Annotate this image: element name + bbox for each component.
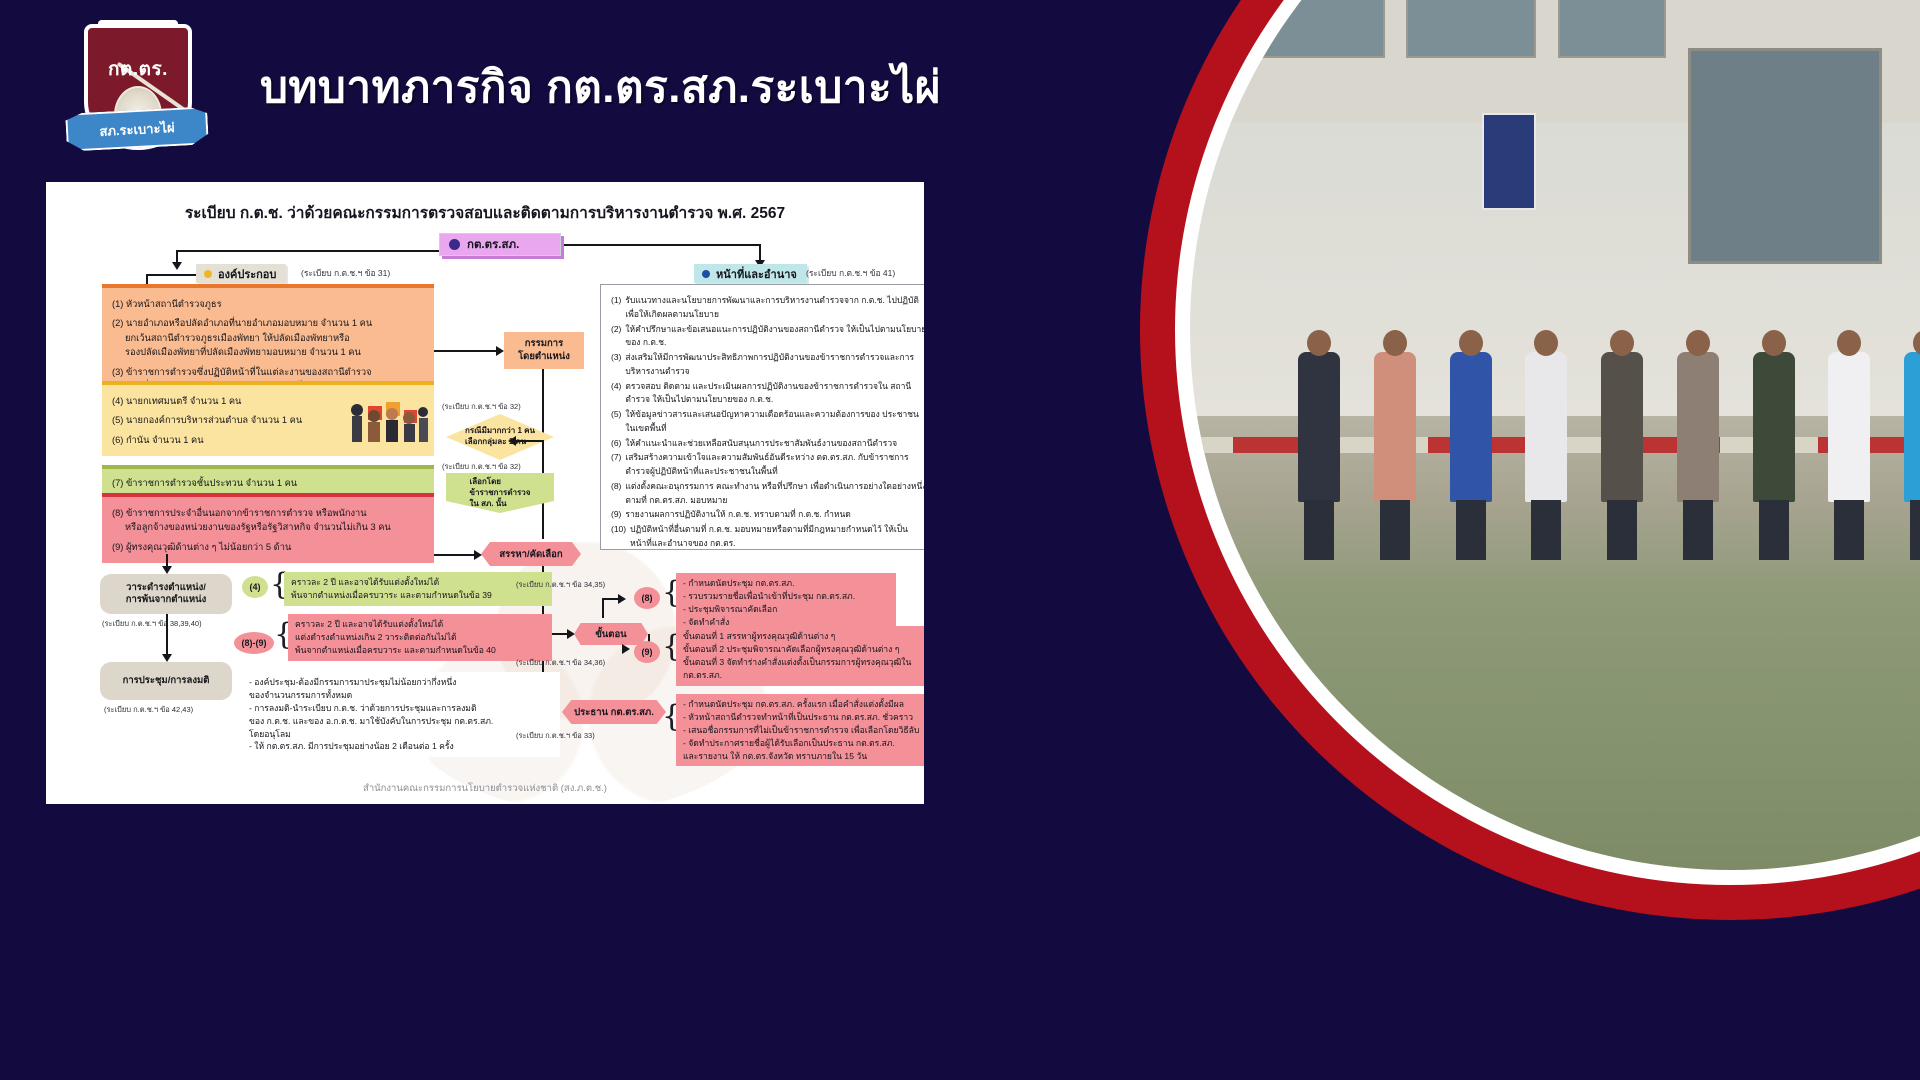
list-item: (1) หัวหน้าสถานีตำรวจภูธร	[112, 297, 424, 311]
note-line: - ให้ กต.ตร.สภ. มีการประชุมอย่างน้อย 2 เ…	[249, 740, 553, 753]
reference-33: (ระเบียบ ก.ต.ช.ฯ ข้อ 33)	[516, 730, 595, 742]
hex-procedure[interactable]: ขั้นตอน	[574, 623, 648, 645]
list-number: (4)	[611, 380, 621, 408]
tag-elected-by-police-label: เลือกโดย ข้าราชการตำรวจ ใน สภ. นั้น	[470, 477, 531, 509]
list-number: (7)	[611, 451, 621, 479]
connector-line	[561, 244, 761, 246]
reference-3435: (ระเบียบ ก.ต.ช.ฯ ข้อ 34,35)	[516, 579, 605, 591]
logo-ribbon-text: สภ.ระเบาะไผ่	[99, 117, 175, 142]
section-header-duties[interactable]: หน้าที่และอำนาจ	[694, 264, 807, 283]
note-line: ขั้นตอนที่ 2 ประชุมพิจารณาคัดเลือกผู้ทรง…	[683, 643, 921, 656]
list-number: (2)	[611, 323, 621, 351]
note-line: พ้นจากตำแหน่งเมื่อครบวาระ และตามกำหนดในข…	[291, 589, 545, 602]
arrow-right-icon	[567, 629, 575, 639]
organization-logo: กต.ตร. สภ.ระเบาะไผ่	[62, 14, 212, 174]
tag-ex-officio[interactable]: กรรมการ โดยตำแหน่ง	[504, 332, 584, 369]
connector-line	[434, 350, 500, 352]
section-header-composition[interactable]: องค์ประกอบ	[196, 264, 286, 283]
connector-line	[542, 369, 544, 539]
list-item: (8) ข้าราชการประจำอื่นนอกจากข้าราชการตำร…	[112, 508, 367, 518]
logo-top-text: กต.ตร.	[88, 54, 188, 84]
connector-line	[176, 250, 446, 252]
note-step-9: ขั้นตอนที่ 1 สรรหาผู้ทรงคุณวุฒิด้านต่าง …	[676, 626, 924, 686]
arrow-right-icon	[474, 550, 482, 560]
duties-box: (1)รับแนวทางและนโยบายการพัฒนาและการบริหา…	[600, 284, 924, 550]
list-item: ตรวจสอบ ติดตาม และประเมินผลการปฏิบัติงาน…	[625, 380, 924, 408]
list-number: (10)	[611, 523, 626, 551]
badge-4: (4)	[242, 576, 268, 598]
note-meeting: - องค์ประชุม-ต้องมีกรรมการมาประชุมไม่น้อ…	[242, 672, 560, 757]
group-photo: 305	[1190, 0, 1920, 870]
note-line: โดยอนุโลม	[249, 728, 553, 741]
note-term-8-9: คราวละ 2 ปี และอาจได้รับแต่งตั้งใหม่ได้ …	[288, 614, 552, 661]
reference-duties: (ระเบียบ ก.ต.ช.ฯ ข้อ 41)	[806, 266, 895, 280]
arrow-right-icon	[496, 346, 504, 356]
note-term-4: คราวละ 2 ปี และอาจได้รับแต่งตั้งใหม่ได้ …	[284, 572, 552, 606]
reference-32a: (ระเบียบ ก.ต.ช.ฯ ข้อ 32)	[442, 401, 521, 413]
note-line: ขั้นตอนที่ 3 จัดทำร่างคำสั่งแต่งตั้งเป็น…	[683, 656, 921, 682]
note-line: - รวบรวมรายชื่อเพื่อนำเข้าที่ประชุม กต.ต…	[683, 590, 889, 603]
infographic-title: ระเบียบ ก.ต.ช. ว่าด้วยคณะกรรมการตรวจสอบแ…	[46, 200, 924, 225]
arrow-down-icon	[172, 262, 182, 270]
node-central-label: กต.ตร.สภ.	[467, 236, 519, 254]
note-line: - กำหนดนัดประชุม กต.ตร.สภ.	[683, 577, 889, 590]
infographic-footer: สำนักงานคณะกรรมการนโยบายตำรวจแห่งชาติ (ส…	[46, 781, 924, 796]
connector-line	[514, 440, 544, 442]
list-item: ให้ข้อมูลข่าวสารและเสนอปัญหาความเดือดร้อ…	[625, 408, 924, 436]
tag-elected-by-police: เลือกโดย ข้าราชการตำรวจ ใน สภ. นั้น	[446, 473, 554, 513]
badge-8-right: (8)	[634, 587, 660, 609]
bullet-icon	[702, 270, 710, 278]
section-header-composition-label: องค์ประกอบ	[218, 265, 276, 283]
badge-9-right: (9)	[634, 641, 660, 663]
note-line: - เสนอชื่อกรรมการที่ไม่เป็นข้าราชการตำรว…	[683, 724, 921, 737]
connector-line	[602, 600, 604, 618]
note-line: และรายงาน ให้ กต.ตร.จังหวัด ทราบภายใน 15…	[683, 750, 921, 763]
tag-term-of-office[interactable]: วาระดำรงตำแหน่ง/ การพ้นจากตำแหน่ง	[100, 574, 232, 614]
composition-box-red: (8) ข้าราชการประจำอื่นนอกจากข้าราชการตำร…	[102, 493, 434, 563]
bullet-icon	[204, 270, 212, 278]
tag-multiple-candidates-label: กรณีมีมากกว่า 1 คน เลือกกลุ่มละ 1 คน	[465, 426, 535, 448]
reference-32b: (ระเบียบ ก.ต.ช.ฯ ข้อ 32)	[442, 461, 521, 473]
page-title: บทบาทภารกิจ กต.ตร.สภ.ระเบาะไผ่	[260, 52, 941, 122]
reference-meeting: (ระเบียบ ก.ต.ช.ฯ ข้อ 42,43)	[104, 704, 193, 716]
list-number: (6)	[611, 437, 621, 451]
list-number: (1)	[611, 294, 621, 322]
section-header-duties-label: หน้าที่และอำนาจ	[716, 265, 797, 283]
tag-term-of-office-label: วาระดำรงตำแหน่ง/ การพ้นจากตำแหน่ง	[126, 582, 207, 607]
list-item: รับแนวทางและนโยบายการพัฒนาและการบริหารงา…	[625, 294, 924, 322]
list-number: (8)	[611, 480, 621, 508]
reference-term: (ระเบียบ ก.ต.ช.ฯ ข้อ 38,39,40)	[102, 618, 202, 630]
note-line: ของ ก.ต.ช. และของ อ.ก.ต.ช. มาใช้บังคับใน…	[249, 715, 553, 728]
list-number: (9)	[611, 508, 621, 522]
arrow-right-icon	[622, 644, 630, 654]
list-item: (2) นายอำเภอหรือปลัดอำเภอที่นายอำเภอมอบห…	[112, 318, 372, 328]
note-line: คราวละ 2 ปี และอาจได้รับแต่งตั้งใหม่ได้	[291, 576, 545, 589]
list-number: (3)	[611, 351, 621, 379]
arrow-down-icon	[162, 654, 172, 662]
note-line: ขั้นตอนที่ 1 สรรหาผู้ทรงคุณวุฒิด้านต่าง …	[683, 630, 921, 643]
note-line: - จัดทำประกาศรายชื่อผู้ได้รับเลือกเป็นปร…	[683, 737, 921, 750]
tag-ex-officio-label: กรรมการ โดยตำแหน่ง	[518, 338, 570, 363]
reference-composition: (ระเบียบ ก.ต.ช.ฯ ข้อ 31)	[301, 266, 390, 280]
arrow-down-icon	[162, 566, 172, 574]
list-item: เสริมสร้างความเข้าใจและความสัมพันธ์อันดี…	[625, 451, 924, 479]
note-line: - กำหนดนัดประชุม กต.ตร.สภ. ครั้งแรก เมื่…	[683, 698, 921, 711]
list-item: แต่งตั้งคณะอนุกรรมการ คณะทำงาน หรือที่ปร…	[625, 480, 924, 508]
note-line: - องค์ประชุม-ต้องมีกรรมการมาประชุมไม่น้อ…	[249, 676, 553, 689]
infographic-card: ระเบียบ ก.ต.ช. ว่าด้วยคณะกรรมการตรวจสอบแ…	[46, 182, 924, 804]
people-teamwork-icon	[346, 388, 432, 450]
arrow-right-icon	[618, 594, 626, 604]
note-line: แต่งดำรงตำแหน่งเกิน 2 วาระติดต่อกันไม่ได…	[295, 631, 545, 644]
hex-chairperson[interactable]: ประธาน กต.ตร.สภ.	[562, 700, 666, 724]
list-item: (3) ข้าราชการตำรวจซึ่งปฏิบัติหน้าที่ในแต…	[112, 367, 372, 377]
bullet-icon	[449, 239, 460, 250]
list-item: รายงานผลการปฏิบัติงานให้ ก.ต.ช. ทราบตามท…	[625, 508, 850, 522]
list-item: ให้คำปรึกษาและข้อเสนอแนะการปฏิบัติงานของ…	[625, 323, 924, 351]
list-item: ปฏิบัติหน้าที่อื่นตามที่ ก.ต.ช. มอบหมายห…	[630, 523, 924, 551]
tag-meeting-voting-label: การประชุม/การลงมติ	[123, 675, 210, 687]
badge-8-9: (8)-(9)	[234, 632, 274, 654]
note-line: ของจำนวนกรรมการทั้งหมด	[249, 689, 553, 702]
list-item: (9) ผู้ทรงคุณวุฒิด้านต่าง ๆ ไม่น้อยกว่า …	[112, 540, 424, 554]
hex-recruit-select[interactable]: สรรหา/คัดเลือก	[481, 542, 581, 566]
reference-3436: (ระเบียบ ก.ต.ช.ฯ ข้อ 34,36)	[516, 657, 605, 669]
tag-multiple-candidates: กรณีมีมากกว่า 1 คน เลือกกลุ่มละ 1 คน	[446, 414, 554, 460]
list-number: (5)	[611, 408, 621, 436]
node-central-committee[interactable]: กต.ตร.สภ.	[439, 233, 561, 256]
tag-meeting-voting[interactable]: การประชุม/การลงมติ	[100, 662, 232, 700]
arrow-left-icon	[508, 436, 516, 446]
note-line: พ้นจากตำแหน่งเมื่อครบวาระ และตามกำหนดในข…	[295, 644, 545, 657]
note-line: - หัวหน้าสถานีตำรวจทำหน้าที่เป็นประธาน ก…	[683, 711, 921, 724]
list-item: ส่งเสริมให้มีการพัฒนาประสิทธิภาพการปฏิบั…	[625, 351, 924, 379]
note-line: - ประชุมพิจารณาคัดเลือก	[683, 603, 889, 616]
note-step-8: - กำหนดนัดประชุม กต.ตร.สภ. - รวบรวมรายชื…	[676, 573, 896, 633]
list-item-cont: ยกเว้นสถานีตำรวจภูธรเมืองพัทยา ให้ปลัดเม…	[112, 331, 424, 345]
list-item: ให้คำแนะนำและช่วยเหลือสนับสนุนการประชาสั…	[625, 437, 897, 451]
note-chairperson: - กำหนดนัดประชุม กต.ตร.สภ. ครั้งแรก เมื่…	[676, 694, 924, 766]
list-item-cont: รองปลัดเมืองพัทยาที่ปลัดเมืองพัทยามอบหมา…	[112, 345, 424, 359]
note-line: - การลงมติ-นำระเบียบ ก.ต.ช. ว่าด้วยการปร…	[249, 702, 553, 715]
list-item: (7) ข้าราชการตำรวจชั้นประทวน จำนวน 1 คน	[112, 476, 424, 490]
logo-ribbon: สภ.ระเบาะไผ่	[65, 106, 209, 151]
note-line: คราวละ 2 ปี และอาจได้รับแต่งตั้งใหม่ได้	[295, 618, 545, 631]
list-item-cont: หรือลูกจ้างของหน่วยงานของรัฐหรือรัฐวิสาห…	[112, 520, 424, 534]
connector-line	[146, 274, 196, 276]
